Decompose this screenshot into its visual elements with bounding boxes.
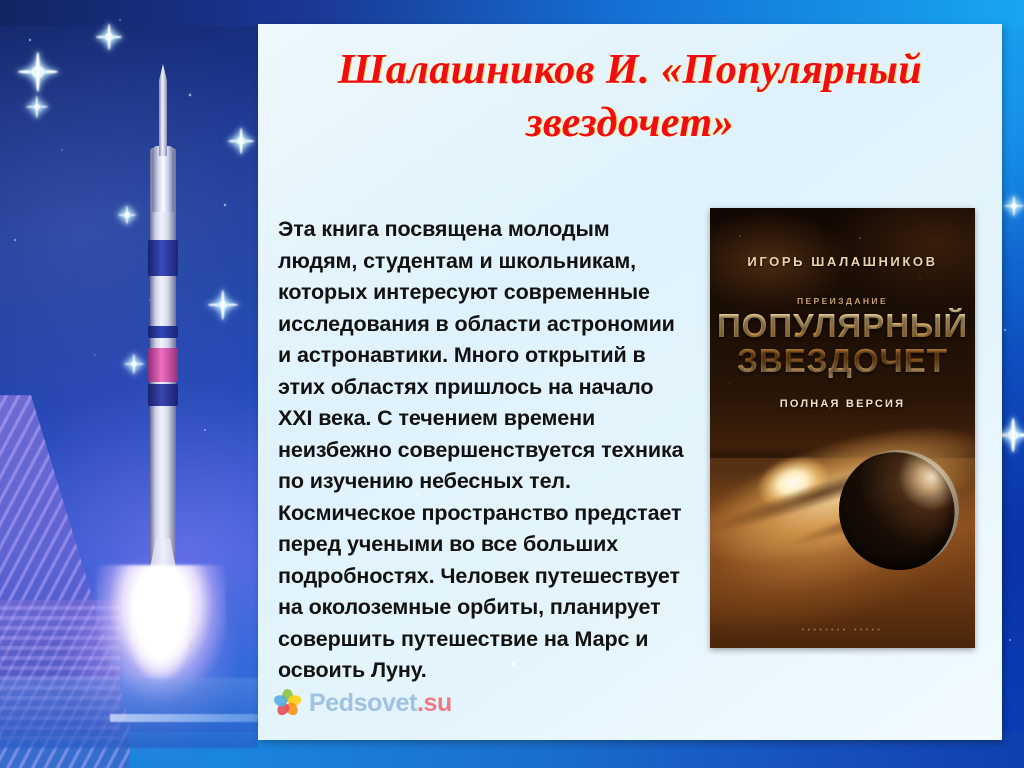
rocket-escape-tower xyxy=(159,64,167,156)
book-cover-reissue-label: ПЕРЕИЗДАНИЕ xyxy=(710,296,975,306)
rocket-launch-illustration xyxy=(0,0,258,768)
site-logo-tld: .su xyxy=(417,689,452,717)
book-cover-publisher: •••••••• ••••• xyxy=(710,627,975,634)
book-cover-title-line1: ПОПУЛЯРНЫЙ xyxy=(710,308,975,343)
book-cover-author: ИГОРЬ ШАЛАШНИКОВ xyxy=(710,252,975,271)
launch-pad-rail xyxy=(110,714,258,722)
site-logo[interactable]: Pedsovet.su xyxy=(272,688,452,718)
book-cover-edition-label: ПОЛНАЯ ВЕРСИЯ xyxy=(710,398,975,410)
content-panel: Шалашников И. «Популярный звездочет» Эта… xyxy=(258,24,1002,740)
book-cover-title: ПОПУЛЯРНЫЙ ЗВЕЗДОЧЕТ xyxy=(710,308,975,378)
book-cover-image: ИГОРЬ ШАЛАШНИКОВ ПЕРЕИЗДАНИЕ ПОПУЛЯРНЫЙ … xyxy=(710,208,975,648)
page-title: Шалашников И. «Популярный звездочет» xyxy=(280,44,980,149)
rocket-band xyxy=(148,240,178,276)
rocket-band xyxy=(148,384,178,406)
site-logo-name: Pedsovet xyxy=(309,689,417,717)
body-paragraph: Эта книга посвящена молодым людям, студе… xyxy=(278,214,748,687)
pinwheel-icon xyxy=(272,688,302,718)
rocket-band xyxy=(148,326,178,338)
book-cover-title-line2: ЗВЕЗДОЧЕТ xyxy=(710,343,975,378)
launch-pad-base xyxy=(0,678,258,748)
presentation-slide: Шалашников И. «Популярный звездочет» Эта… xyxy=(0,0,1024,768)
site-logo-text: Pedsovet.su xyxy=(309,689,452,718)
rocket-band xyxy=(148,348,178,382)
